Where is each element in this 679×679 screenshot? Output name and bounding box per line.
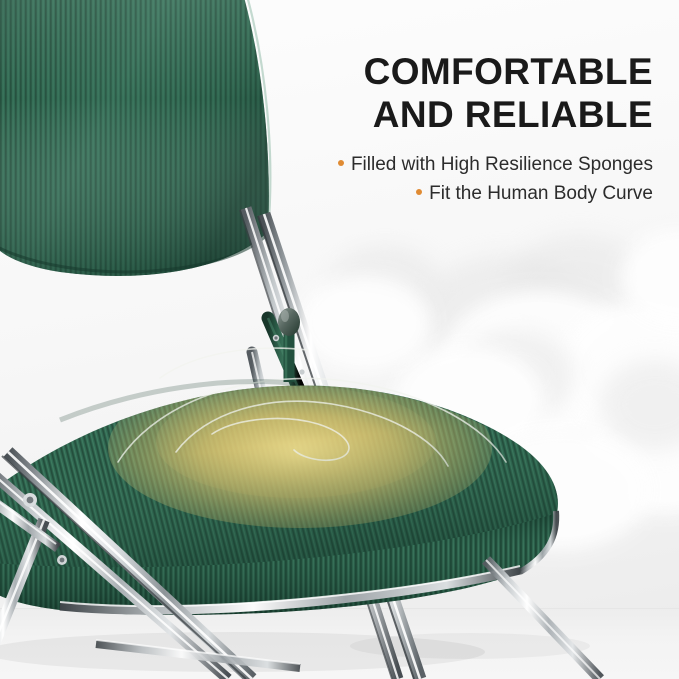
bullet-text: Filled with High Resilience Sponges bbox=[351, 154, 653, 175]
marketing-copy-block: COMFORTABLE AND RELIABLE Filled with Hig… bbox=[253, 50, 653, 208]
bullet-dot-icon bbox=[338, 160, 344, 166]
bullet-text: Fit the Human Body Curve bbox=[429, 183, 653, 204]
feature-bullet-list: Filled with High Resilience Sponges Fit … bbox=[253, 150, 653, 208]
headline-line-1: COMFORTABLE bbox=[364, 51, 653, 92]
bullet-dot-icon bbox=[416, 189, 422, 195]
list-item: Fit the Human Body Curve bbox=[253, 179, 653, 208]
ground-plane bbox=[0, 608, 679, 679]
product-marketing-image: COMFORTABLE AND RELIABLE Filled with Hig… bbox=[0, 0, 679, 679]
headline-line-2: AND RELIABLE bbox=[253, 93, 653, 136]
page-title: COMFORTABLE AND RELIABLE bbox=[253, 50, 653, 136]
list-item: Filled with High Resilience Sponges bbox=[253, 150, 653, 179]
